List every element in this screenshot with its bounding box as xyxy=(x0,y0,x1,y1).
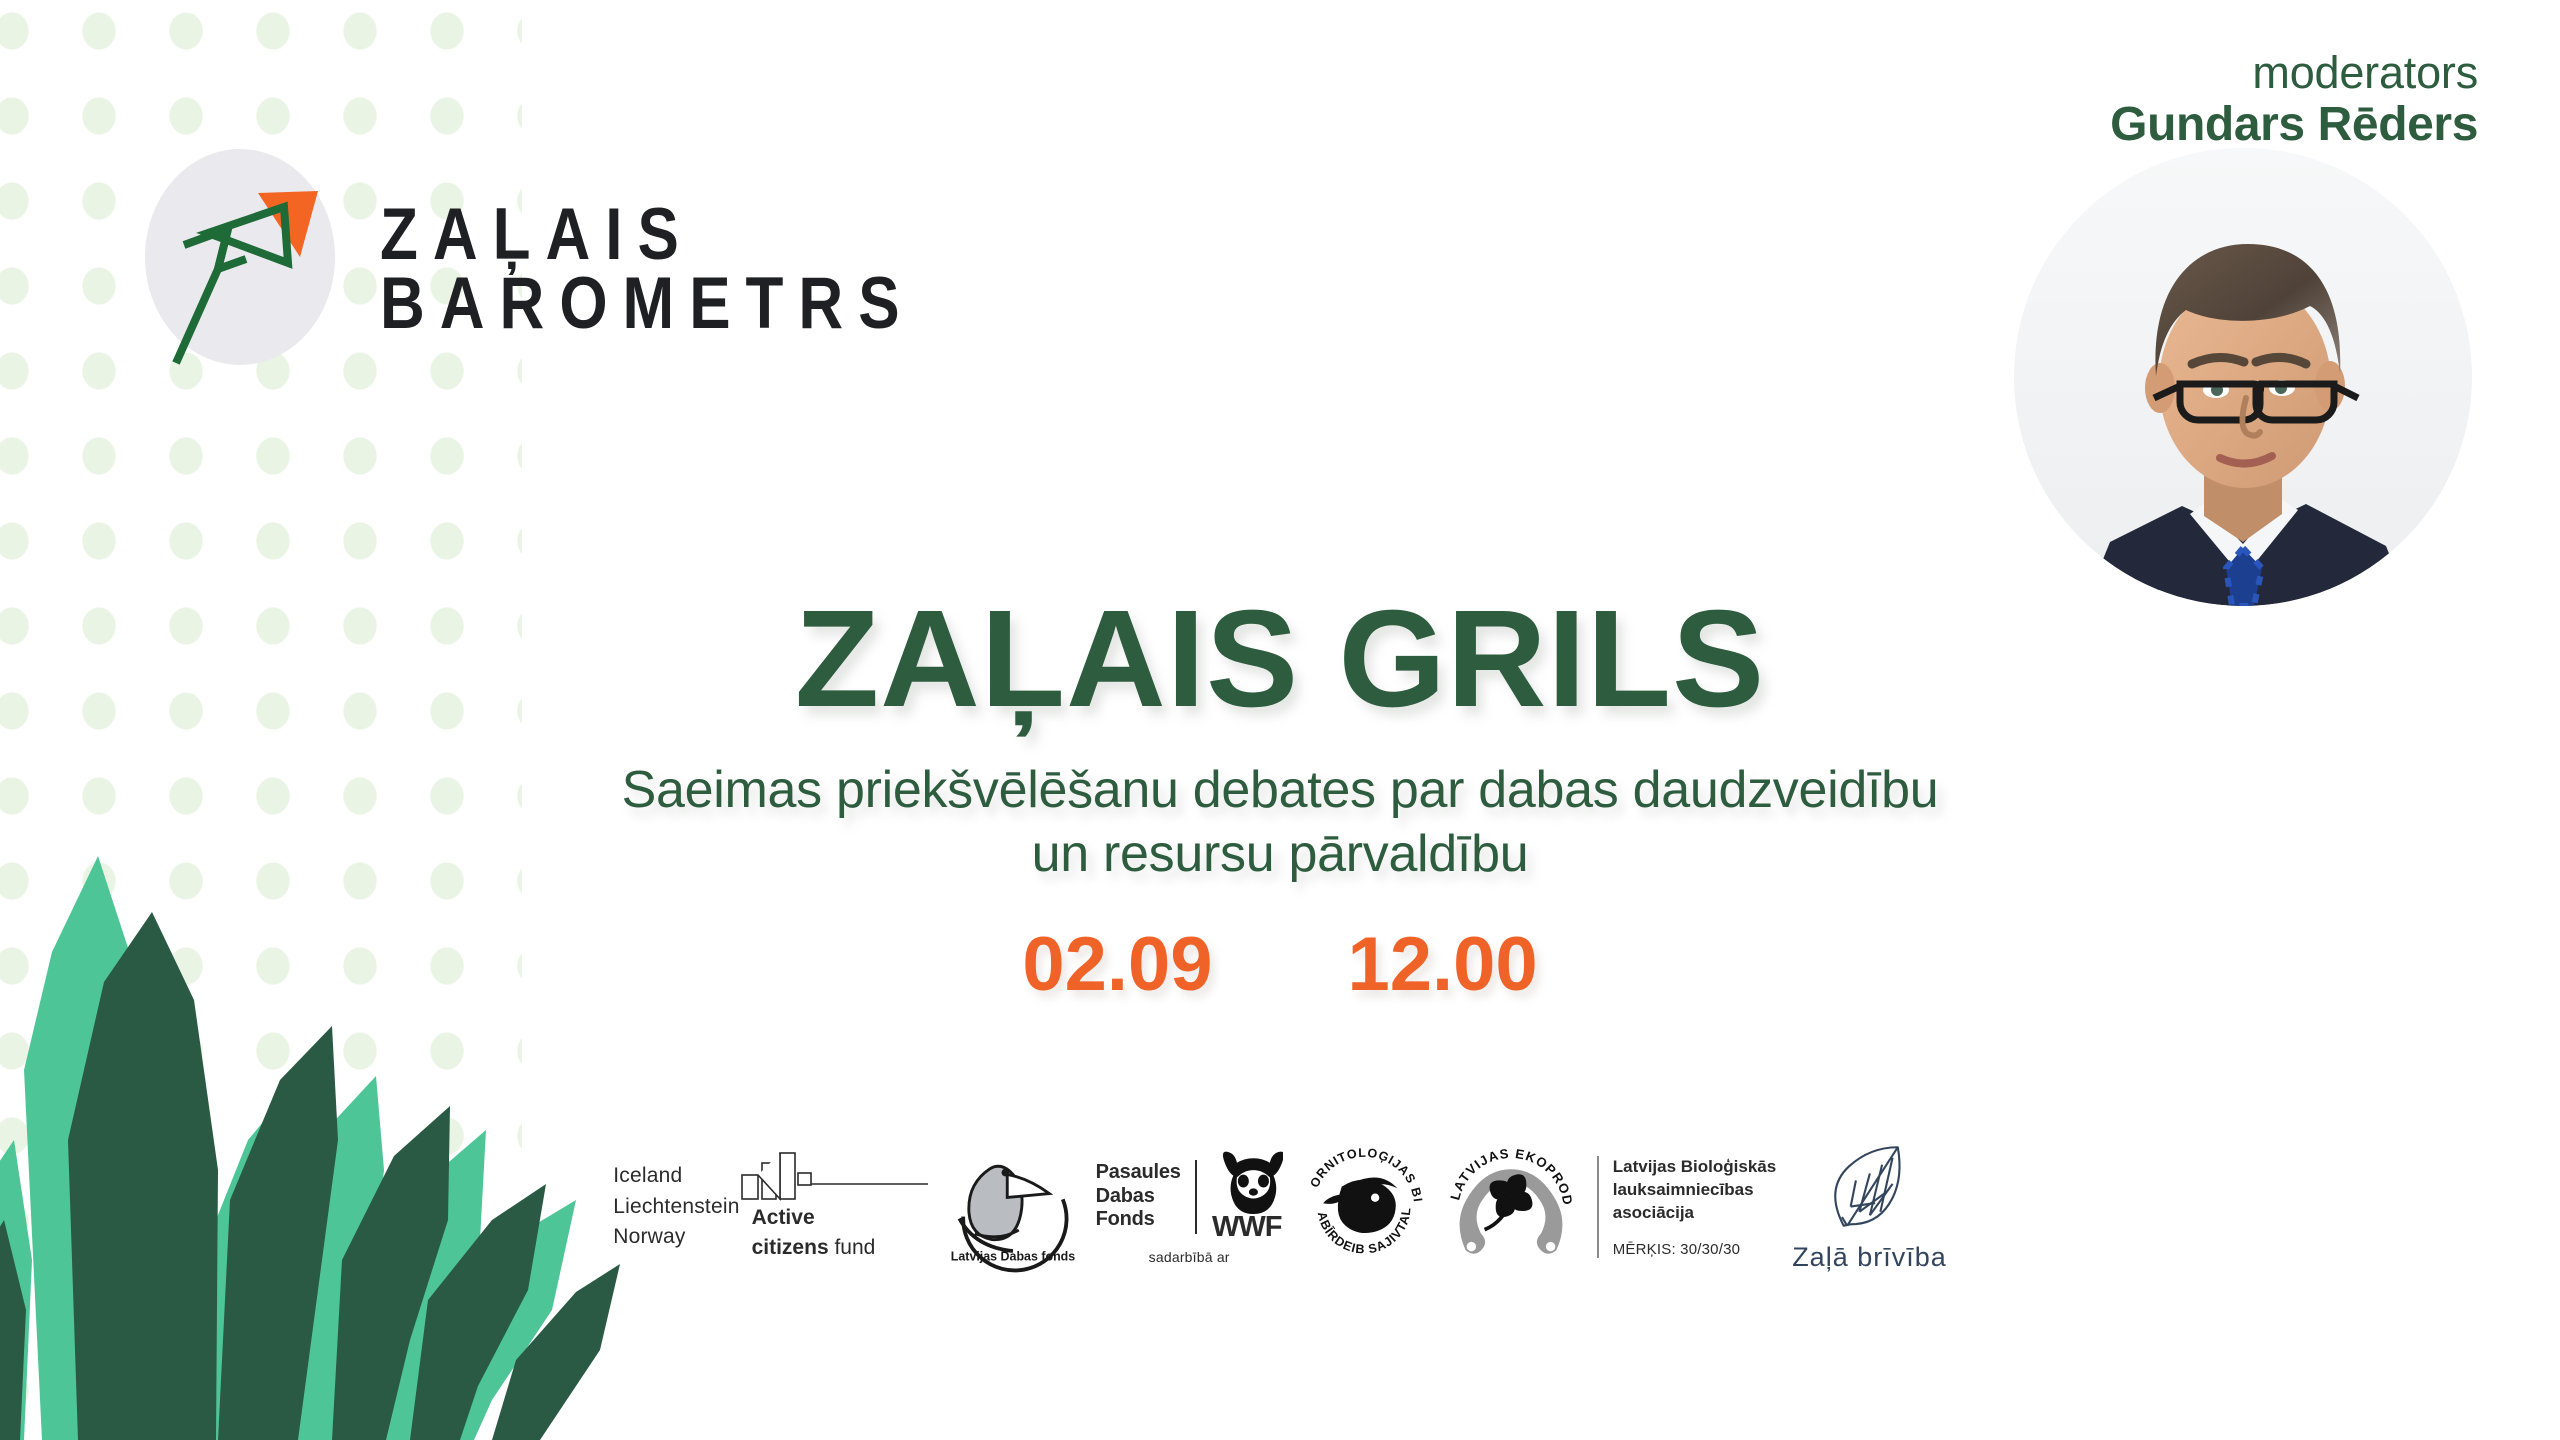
brand-wordmark: ZAĻAIS BAROMETRS xyxy=(380,191,915,329)
acf-word-citizens: citizens xyxy=(752,1236,829,1259)
poster-canvas: ZAĻAIS BAROMETRS moderators Gundars Rēde… xyxy=(0,0,2560,1440)
moderator-role-label: moderators xyxy=(1918,48,2478,98)
page-title: ZAĻAIS GRILS xyxy=(0,590,2560,728)
leaf-icon xyxy=(1821,1142,1917,1238)
sponsor-latvijas-biologiskas-lauksaimniecibas-asociacija: Latvijas Bioloģiskās lauksaimniecības as… xyxy=(1597,1156,1776,1258)
active-citizens-fund-label: Active citizens fund xyxy=(740,1203,930,1264)
sponsor-logo-strip: Iceland Liechtenstein Norway xyxy=(0,1140,2560,1274)
sponsor-latvijas-ekoprodukts: LATVIJAS EKOPRODUKTS xyxy=(1445,1141,1577,1273)
lbla-name-line-3: asociācija xyxy=(1613,1202,1776,1225)
acf-word-fund: fund xyxy=(834,1236,875,1259)
pdf-name-line-1: Pasaules xyxy=(1096,1161,1181,1185)
wwf-panda-icon xyxy=(1211,1150,1283,1214)
sponsor-latvijas-ornitologijas-biedriba: ORNITOLOĢIJAS BIE ABĪRDEIB SAJIVTAL xyxy=(1299,1142,1429,1272)
page-subtitle: Saeimas priekšvēlēšanu debates par dabas… xyxy=(600,758,1960,887)
zala-briviba-label: Zaļā brīvība xyxy=(1792,1242,1947,1273)
eea-country-list: Iceland Liechtenstein Norway xyxy=(613,1161,739,1252)
eea-country-iceland: Iceland xyxy=(613,1161,739,1191)
lbla-name-label: Latvijas Bioloģiskās lauksaimniecības as… xyxy=(1613,1156,1776,1225)
event-time: 12.00 xyxy=(1348,921,1538,1008)
sponsor-latvijas-dabas-fonds: Latvijas Dabas fonds xyxy=(946,1140,1080,1274)
ldf-circular-label: Latvijas Dabas fonds xyxy=(950,1250,1074,1264)
lbla-name-line-1: Latvijas Bioloģiskās xyxy=(1613,1156,1776,1179)
moderator-block: moderators Gundars Rēders xyxy=(1918,48,2478,152)
pdf-name-line-3: Fonds xyxy=(1096,1208,1181,1232)
moderator-name: Gundars Rēders xyxy=(1918,98,2478,152)
sponsor-pasaules-dabas-fonds-wwf: Pasaules Dabas Fonds xyxy=(1096,1150,1283,1265)
pdf-name-label: Pasaules Dabas Fonds xyxy=(1096,1161,1181,1232)
eea-country-liechtenstein: Liechtenstein xyxy=(613,1192,739,1222)
kingfisher-bird-icon: Latvijas Dabas fonds xyxy=(946,1140,1080,1274)
acf-word-active: Active xyxy=(752,1206,815,1229)
eea-grants-bars-icon xyxy=(740,1151,930,1203)
bird-circle-icon: ORNITOLOĢIJAS BIE ABĪRDEIB SAJIVTAL xyxy=(1299,1142,1429,1272)
sponsor-eea-grants: Iceland Liechtenstein Norway xyxy=(613,1151,929,1264)
kite-weathervane-icon xyxy=(140,145,350,375)
pdf-name-line-2: Dabas xyxy=(1096,1185,1181,1209)
pdf-caption: sadarbībā ar xyxy=(1149,1249,1230,1265)
lbla-name-line-2: lauksaimniecības xyxy=(1613,1179,1776,1202)
wwf-wordmark: WWF xyxy=(1212,1211,1281,1244)
wordmark-line-2: BAROMETRS xyxy=(380,270,915,339)
hero-section: ZAĻAIS GRILS Saeimas priekšvēlēšanu deba… xyxy=(0,590,2560,1008)
sponsor-zala-briviba: Zaļā brīvība xyxy=(1792,1142,1947,1273)
event-meta: 02.09 12.00 xyxy=(0,921,2560,1008)
eea-country-norway: Norway xyxy=(613,1222,739,1252)
brand-logo: ZAĻAIS BAROMETRS xyxy=(140,145,915,375)
wordmark-line-1: ZAĻAIS xyxy=(380,201,915,270)
divider xyxy=(1195,1160,1197,1234)
clover-horseshoe-icon: LATVIJAS EKOPRODUKTS xyxy=(1445,1141,1577,1273)
moderator-avatar xyxy=(2014,148,2472,606)
event-date: 02.09 xyxy=(1022,921,1212,1008)
lbla-goal-label: MĒRĶIS: 30/30/30 xyxy=(1613,1241,1776,1258)
